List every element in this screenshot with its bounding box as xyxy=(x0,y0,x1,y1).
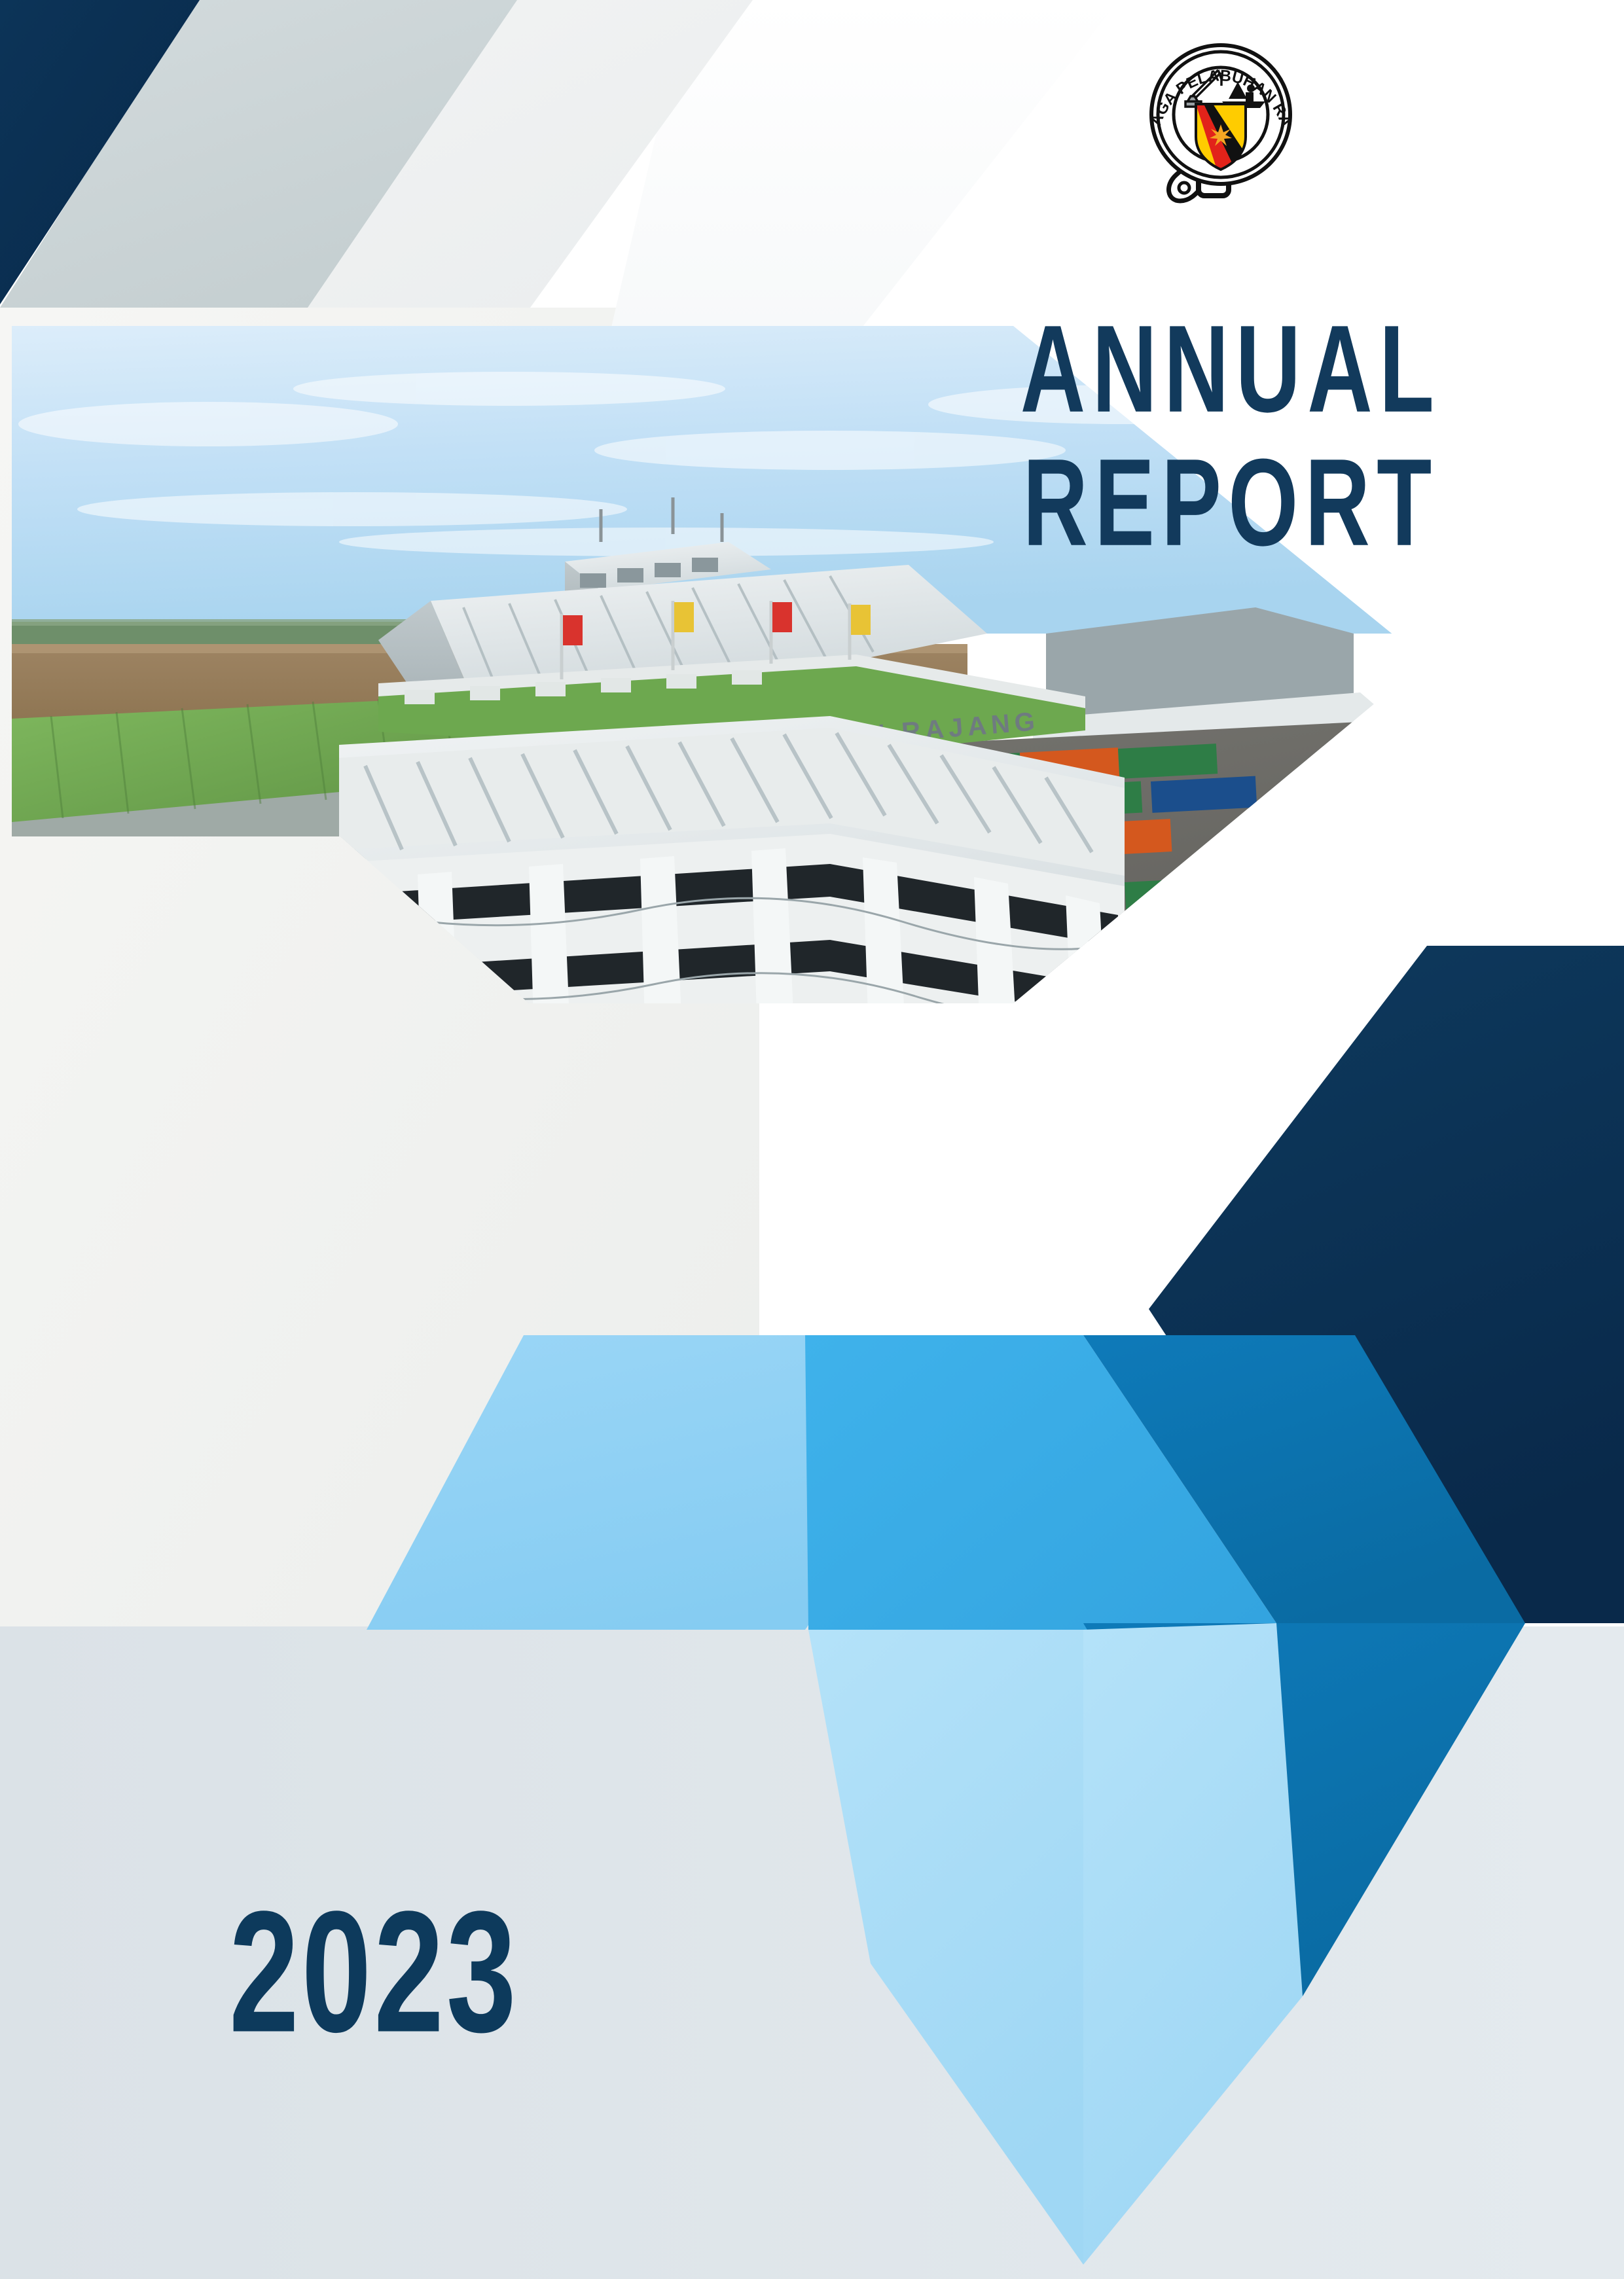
organization-logo: LEMBAGA PELABUHAN RAJANG xyxy=(1136,36,1306,206)
cover-title: ANNUAL REPORT xyxy=(936,308,1525,583)
title-line-annual: ANNUAL xyxy=(957,308,1505,431)
cover-year: 2023 xyxy=(229,1873,518,2072)
annual-report-cover-page: LEMBAGA PELABUHAN RAJANG xyxy=(0,0,1624,2279)
title-line-report: REPORT xyxy=(957,441,1505,565)
